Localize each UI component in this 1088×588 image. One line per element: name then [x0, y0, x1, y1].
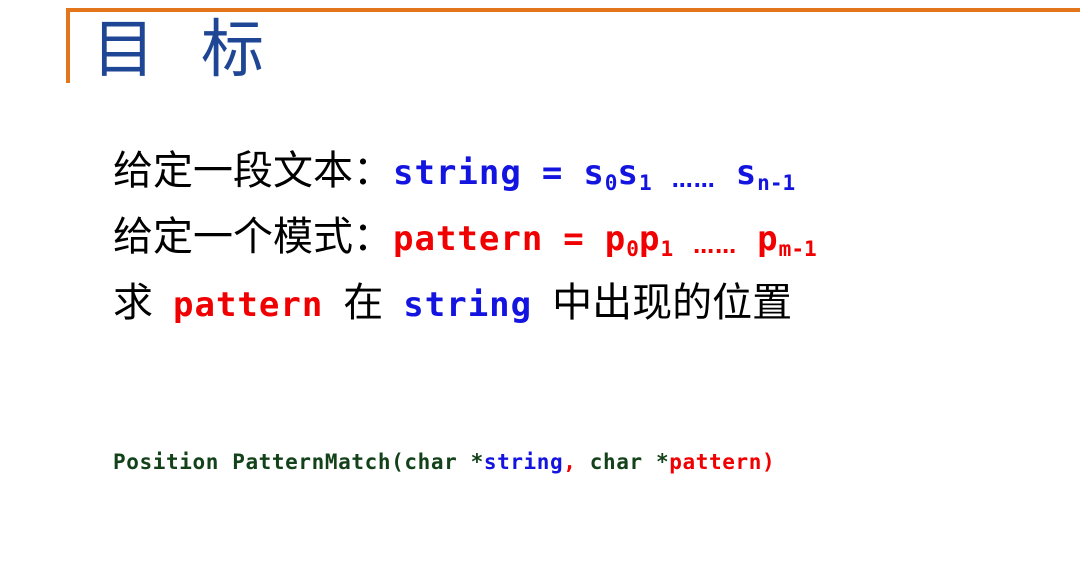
line-text-term1-sub: 0	[605, 170, 618, 195]
line-pattern-ellipsis: ……	[693, 234, 737, 258]
line-pattern-term3-sub: m-1	[779, 236, 817, 261]
line-text-term2-sub: 1	[639, 170, 652, 195]
goal-verb: 求	[113, 280, 153, 326]
line-text-term3: sn-1	[736, 153, 796, 193]
line-text-equals: =	[542, 153, 563, 193]
code-param1-name: string	[484, 450, 563, 474]
bullet-line-pattern: 给定一个模式：pattern=p0p1……pm-1	[113, 204, 1063, 270]
line-pattern-cn-prefix: 给定一个模式：	[113, 214, 393, 260]
page-title: 目 标	[92, 12, 266, 88]
body-content: 给定一段文本：string=s0s1……sn-1 给定一个模式：pattern=…	[113, 138, 1063, 336]
line-pattern-equals: =	[563, 219, 584, 259]
code-close-paren: )	[762, 450, 775, 474]
line-text-term1-base: s	[583, 153, 604, 193]
accent-rule-left	[66, 8, 70, 83]
bullet-line-goal: 求pattern在string中出现的位置	[113, 270, 1063, 336]
goal-string-word: string	[403, 285, 532, 325]
code-separator: ,	[563, 450, 590, 474]
goal-pattern-word: pattern	[173, 285, 323, 325]
bullet-line-text: 给定一段文本：string=s0s1……sn-1	[113, 138, 1063, 204]
line-text-ellipsis: ……	[672, 168, 716, 192]
code-function-name: PatternMatch(	[219, 450, 404, 474]
line-text-term1: s0	[583, 153, 617, 193]
line-text-term2: s1	[618, 153, 652, 193]
code-param1-type: char *	[404, 450, 483, 474]
code-param2-name: pattern	[669, 450, 762, 474]
slide-canvas: 目 标 给定一段文本：string=s0s1……sn-1 给定一个模式：patt…	[0, 0, 1088, 588]
line-text-identifier: string	[393, 153, 522, 193]
line-pattern-term1-base: p	[605, 219, 626, 259]
line-pattern-term3: pm-1	[757, 219, 817, 259]
line-pattern-term2-base: p	[639, 219, 660, 259]
line-text-term3-base: s	[736, 153, 757, 193]
code-param2-type: char *	[590, 450, 669, 474]
line-pattern-term3-base: p	[757, 219, 778, 259]
line-text-term2-base: s	[618, 153, 639, 193]
line-pattern-term2-sub: 1	[660, 236, 673, 261]
goal-cn-suffix: 中出现的位置	[552, 280, 792, 326]
line-pattern-term1: p0	[605, 219, 639, 259]
line-text-cn-prefix: 给定一段文本：	[113, 148, 393, 194]
line-pattern-term1-sub: 0	[626, 236, 639, 261]
line-pattern-term2: p1	[639, 219, 673, 259]
function-prototype: Position PatternMatch(char *string, char…	[113, 450, 775, 474]
line-text-term3-sub: n-1	[757, 170, 795, 195]
code-return-type: Position	[113, 450, 219, 474]
line-pattern-identifier: pattern	[393, 219, 543, 259]
goal-cn-mid: 在	[343, 280, 383, 326]
